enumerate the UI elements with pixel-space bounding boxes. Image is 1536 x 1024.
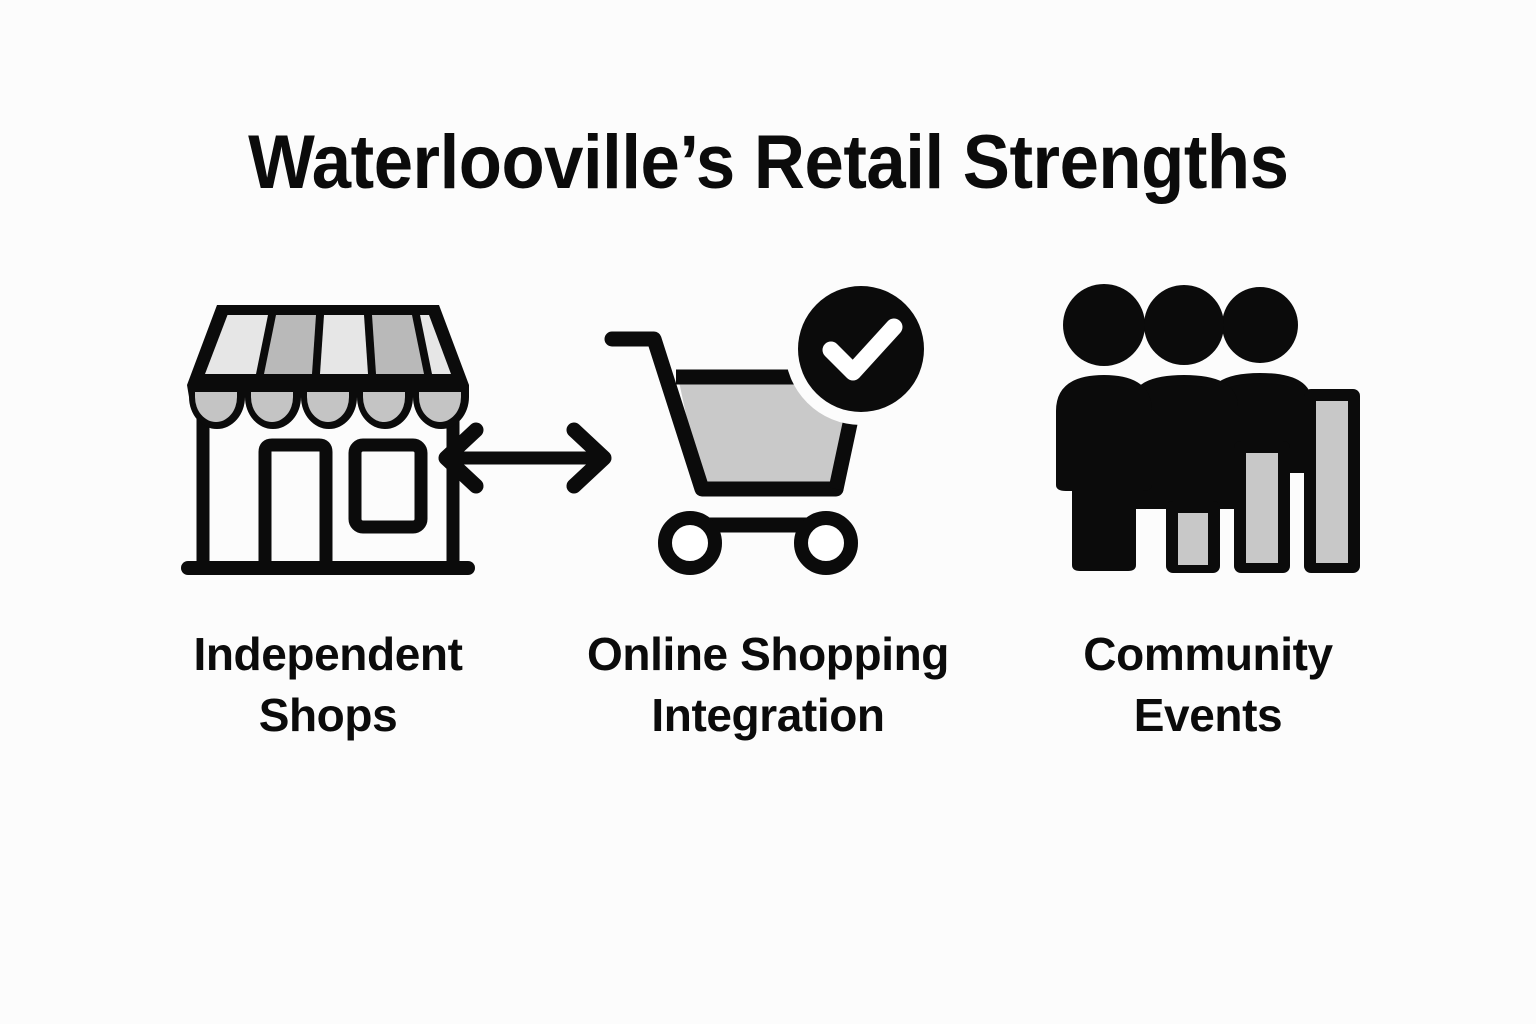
strength-item-community-events: Community Events [988,262,1428,745]
caption-line-2: Events [1083,685,1332,746]
shopping-cart-check-icon [598,277,938,587]
strength-item-online-shopping: Online Shopping Integration [548,262,988,745]
page-title: Waterlooville’s Retail Strengths [248,123,1288,203]
check-badge-icon [798,286,924,412]
strengths-row: Independent Shops [0,262,1536,822]
strength-item-independent-shops: Independent Shops [108,262,548,745]
caption-line-2: Shops [193,685,462,746]
double-arrow-icon [430,418,620,498]
title-container: Waterlooville’s Retail Strengths [0,72,1536,254]
caption-independent-shops: Independent Shops [193,624,462,745]
caption-online-shopping: Online Shopping Integration [587,624,949,745]
person-icon-1 [1056,284,1152,571]
caption-line-2: Integration [587,685,949,746]
connector-container [430,418,620,498]
caption-line-1: Independent [193,624,462,685]
community-growth-icon [1048,277,1368,587]
caption-line-1: Community [1083,624,1332,685]
caption-line-1: Online Shopping [587,624,949,685]
caption-community-events: Community Events [1083,624,1332,745]
infographic-canvas: Waterlooville’s Retail Strengths [0,0,1536,1024]
community-icon-box [1048,262,1368,602]
shopping-cart-icon-box [598,262,938,602]
